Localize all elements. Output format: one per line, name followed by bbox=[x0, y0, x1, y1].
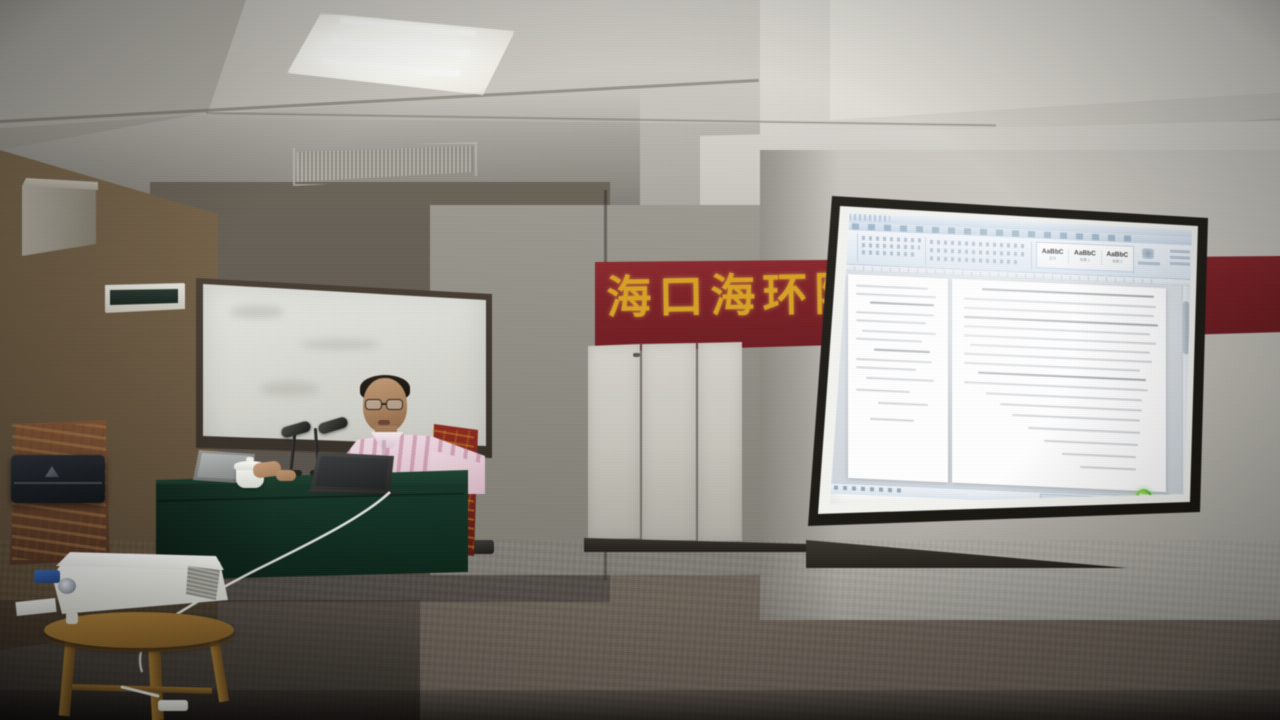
projector-cable-plug bbox=[34, 570, 60, 583]
bag-zipper bbox=[14, 482, 102, 484]
style-name: 标题 1 bbox=[1069, 256, 1100, 265]
eyeglasses-bridge bbox=[381, 403, 387, 405]
whiteboard-smudge bbox=[300, 340, 380, 349]
projection-screen[interactable]: AaBbC 正文 AaBbC 标题 1 AaBbC 标题 2 bbox=[830, 212, 1192, 504]
document-page-right[interactable] bbox=[952, 279, 1166, 493]
whiteboard-smudge bbox=[260, 382, 320, 396]
projected-word-window: AaBbC 正文 AaBbC 标题 1 AaBbC 标题 2 bbox=[830, 212, 1192, 504]
presenter-hand bbox=[276, 470, 296, 481]
projector-lens bbox=[58, 578, 76, 594]
presenter-mouth bbox=[378, 420, 390, 425]
scrollbar-thumb[interactable] bbox=[1183, 301, 1189, 354]
laptop-dark-screen bbox=[315, 456, 389, 489]
projector-vent bbox=[186, 566, 220, 600]
door-seam bbox=[640, 343, 642, 541]
door-panel[interactable] bbox=[588, 344, 640, 540]
style-name: 标题 2 bbox=[1102, 258, 1133, 267]
edit-icon[interactable] bbox=[1142, 248, 1154, 259]
door-panel[interactable] bbox=[698, 342, 742, 542]
door-seam bbox=[696, 342, 698, 542]
style-item-normal[interactable]: AaBbC 正文 bbox=[1037, 248, 1069, 264]
door-panel[interactable] bbox=[642, 343, 696, 541]
door-handle[interactable] bbox=[633, 353, 640, 357]
eyeglasses-icon bbox=[386, 399, 403, 410]
document-page-left[interactable] bbox=[848, 274, 948, 482]
projector-foot bbox=[66, 612, 78, 624]
eyeglasses-icon bbox=[365, 399, 382, 410]
style-gallery[interactable]: AaBbC 正文 AaBbC 标题 1 AaBbC 标题 2 bbox=[1036, 242, 1134, 273]
style-item-heading1[interactable]: AaBbC 标题 1 bbox=[1069, 249, 1101, 265]
whiteboard-smudge bbox=[230, 306, 284, 318]
style-item-heading2[interactable]: AaBbC 标题 2 bbox=[1102, 251, 1133, 267]
wall-control-panel-display bbox=[110, 289, 178, 305]
floor-shadow bbox=[0, 690, 1280, 720]
laptop-bag bbox=[11, 455, 105, 503]
wall-speaker bbox=[22, 182, 96, 256]
teacup-knob bbox=[246, 457, 254, 462]
conference-room-photo: 海口海环院环 bbox=[0, 0, 1280, 720]
style-name: 正文 bbox=[1037, 255, 1068, 264]
floor-object bbox=[158, 700, 188, 711]
